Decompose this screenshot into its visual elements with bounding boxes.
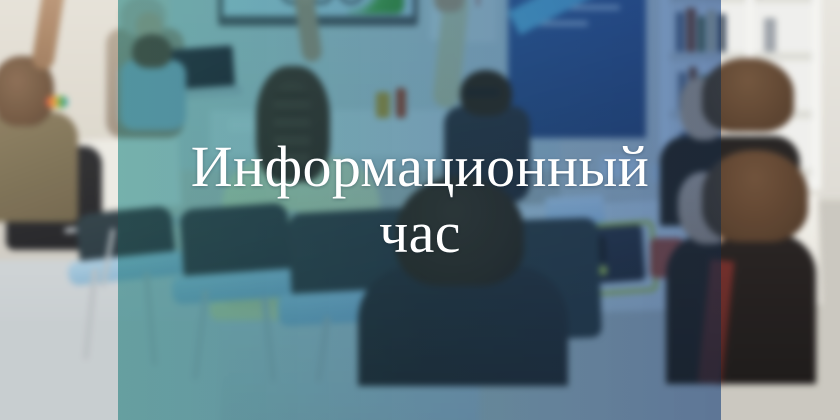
right-panel-veil — [721, 0, 840, 420]
center-gradient-overlay-light — [118, 0, 721, 420]
left-panel-veil — [0, 0, 118, 420]
event-banner: Информационный час — [0, 0, 840, 420]
